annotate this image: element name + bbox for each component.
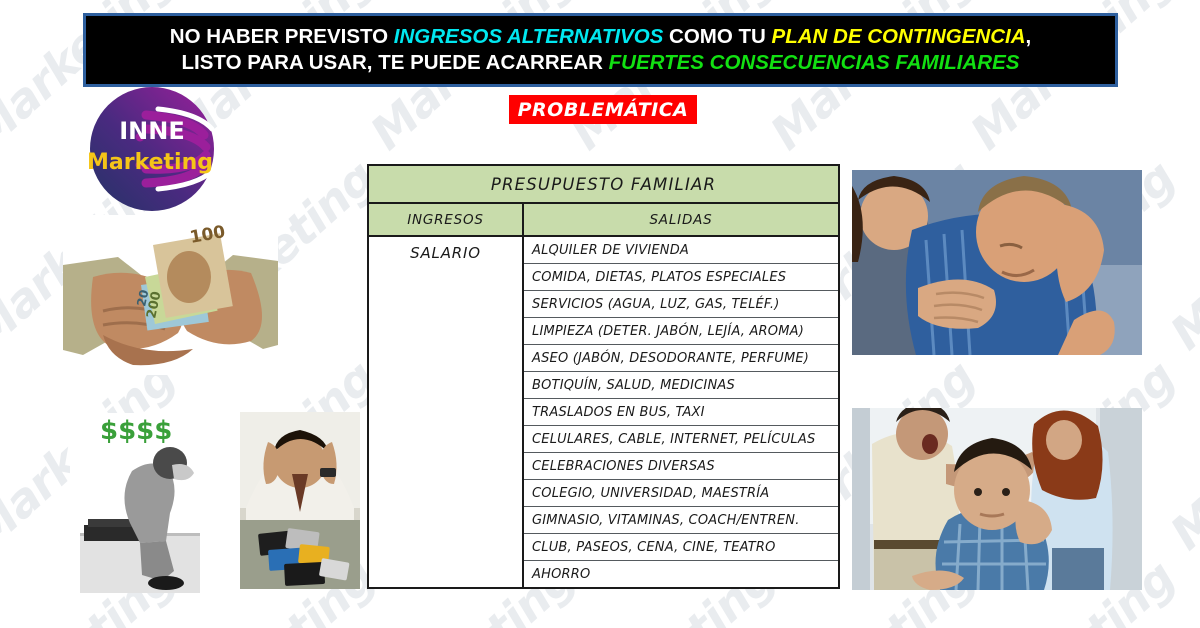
presupuesto-familiar-table: PRESUPUESTO FAMILIAR INGRESOS SALIDAS SA… xyxy=(367,164,840,589)
table-row: COLEGIO, UNIVERSIDAD, MAESTRÍA xyxy=(524,480,838,507)
table-row: GIMNASIO, VITAMINAS, COACH/ENTREN. xyxy=(524,507,838,534)
credit-cards-photo xyxy=(240,412,360,589)
outgoing-label: AHORRO xyxy=(532,567,590,582)
headline-emphasis-consecuencias-familiares: FUERTES CONSECUENCIAS FAMILIARES xyxy=(609,51,1020,74)
table-title: PRESUPUESTO FAMILIAR xyxy=(369,166,838,204)
boy-eye xyxy=(974,488,982,496)
table-row: ASEO (JABÓN, DESODORANTE, PERFUME) xyxy=(524,345,838,372)
headline-text-segment: , xyxy=(1026,25,1032,48)
table-row: BOTIQUÍN, SALUD, MEDICINAS xyxy=(524,372,838,399)
headline-text-segment: COMO TU xyxy=(663,25,771,48)
headline-emphasis-ingresos-alternativos: INGRESOS ALTERNATIVOS xyxy=(394,25,664,48)
headline-line-1: NO HABER PREVISTO INGRESOS ALTERNATIVOS … xyxy=(170,24,1031,50)
logo-text-marketing: Marketing xyxy=(88,150,213,175)
headline-line-2: LISTO PARA USAR, TE PUEDE ACARREAR FUERT… xyxy=(182,50,1020,76)
table-row: SERVICIOS (AGUA, LUZ, GAS, TELÉF.) xyxy=(524,291,838,318)
logo-circle xyxy=(90,87,214,211)
table-body: SALARIO ALQUILER DE VIVIENDA COMIDA, DIE… xyxy=(369,237,838,587)
problematica-label: PROBLEMÁTICA xyxy=(518,99,689,121)
column-header-ingresos-label: INGRESOS xyxy=(407,212,484,228)
outgoing-label: ALQUILER DE VIVIENDA xyxy=(532,243,689,258)
outgoing-label: ASEO (JABÓN, DESODORANTE, PERFUME) xyxy=(532,351,809,366)
problematica-badge: PROBLEMÁTICA xyxy=(509,95,697,124)
outgoing-label: CLUB, PASEOS, CENA, CINE, TEATRO xyxy=(532,540,776,555)
outgoing-label: TRASLADOS EN BUS, TAXI xyxy=(532,405,705,420)
table-column-headers: INGRESOS SALIDAS xyxy=(369,204,838,237)
credit-cards-illustration xyxy=(240,412,360,589)
outgoings-column: ALQUILER DE VIVIENDA COMIDA, DIETAS, PLA… xyxy=(524,237,838,587)
table-row: CELULARES, CABLE, INTERNET, PELÍCULAS xyxy=(524,426,838,453)
headline-text-segment: LISTO PARA USAR, TE PUEDE ACARREAR xyxy=(182,51,609,74)
headline-banner: NO HABER PREVISTO INGRESOS ALTERNATIVOS … xyxy=(83,13,1118,87)
logo-text-inne: INNE xyxy=(119,117,185,145)
stressed-man-photo: $$$$ xyxy=(70,413,240,593)
logo-graphic: INNE Marketing xyxy=(88,85,216,213)
watermark-text: Marketing xyxy=(1160,350,1200,560)
watermark-text: Marketing xyxy=(1160,150,1200,360)
column-header-salidas-label: SALIDAS xyxy=(649,212,712,228)
outgoing-label: LIMPIEZA (DETER. JABÓN, LEJÍA, AROMA) xyxy=(532,324,804,339)
dollar-signs-icon: $$$$ xyxy=(100,416,172,446)
father-open-mouth xyxy=(922,434,938,454)
column-header-ingresos: INGRESOS xyxy=(369,204,524,235)
outgoing-label: COLEGIO, UNIVERSIDAD, MAESTRÍA xyxy=(532,486,769,501)
comforting-couple-illustration xyxy=(852,170,1142,355)
income-cell: SALARIO xyxy=(369,237,524,587)
mans-shoe xyxy=(148,576,184,590)
table-row: ALQUILER DE VIVIENDA xyxy=(524,237,838,264)
outgoing-label: CELEBRACIONES DIVERSAS xyxy=(532,459,715,474)
outgoing-label: BOTIQUÍN, SALUD, MEDICINAS xyxy=(532,378,735,393)
outgoing-label: COMIDA, DIETAS, PLATOS ESPECIALES xyxy=(532,270,786,285)
outgoing-label: CELULARES, CABLE, INTERNET, PELÍCULAS xyxy=(532,432,815,447)
stressed-man-illustration: $$$$ xyxy=(70,413,240,593)
mother-jeans xyxy=(1052,548,1104,590)
family-argument-photo xyxy=(852,408,1142,590)
table-row: COMIDA, DIETAS, PLATOS ESPECIALES xyxy=(524,264,838,291)
column-header-salidas: SALIDAS xyxy=(524,204,838,235)
comforting-couple-photo xyxy=(852,170,1142,355)
slide-canvas: Marketing Marketing Marketing Marketing … xyxy=(0,0,1200,628)
headline-text-segment: NO HABER PREVISTO xyxy=(170,25,394,48)
outgoing-label: GIMNASIO, VITAMINAS, COACH/ENTREN. xyxy=(532,513,800,528)
outgoing-label: SERVICIOS (AGUA, LUZ, GAS, TELÉF.) xyxy=(532,297,780,312)
headline-emphasis-plan-de-contingencia: PLAN DE CONTINGENCIA xyxy=(772,25,1026,48)
boy-eye xyxy=(1002,488,1010,496)
money-exchange-photo: 100 200 20 xyxy=(63,215,278,375)
inne-marketing-logo: INNE Marketing xyxy=(88,85,216,213)
table-row: AHORRO xyxy=(524,561,838,587)
income-value-salario: SALARIO xyxy=(410,244,481,262)
wristwatch xyxy=(320,468,336,477)
money-exchange-illustration: 100 200 20 xyxy=(63,215,278,375)
table-row: CLUB, PASEOS, CENA, CINE, TEATRO xyxy=(524,534,838,561)
family-argument-illustration xyxy=(852,408,1142,590)
table-row: LIMPIEZA (DETER. JABÓN, LEJÍA, AROMA) xyxy=(524,318,838,345)
table-row: TRASLADOS EN BUS, TAXI xyxy=(524,399,838,426)
watermark-text: Marketing xyxy=(1160,550,1200,628)
table-row: CELEBRACIONES DIVERSAS xyxy=(524,453,838,480)
